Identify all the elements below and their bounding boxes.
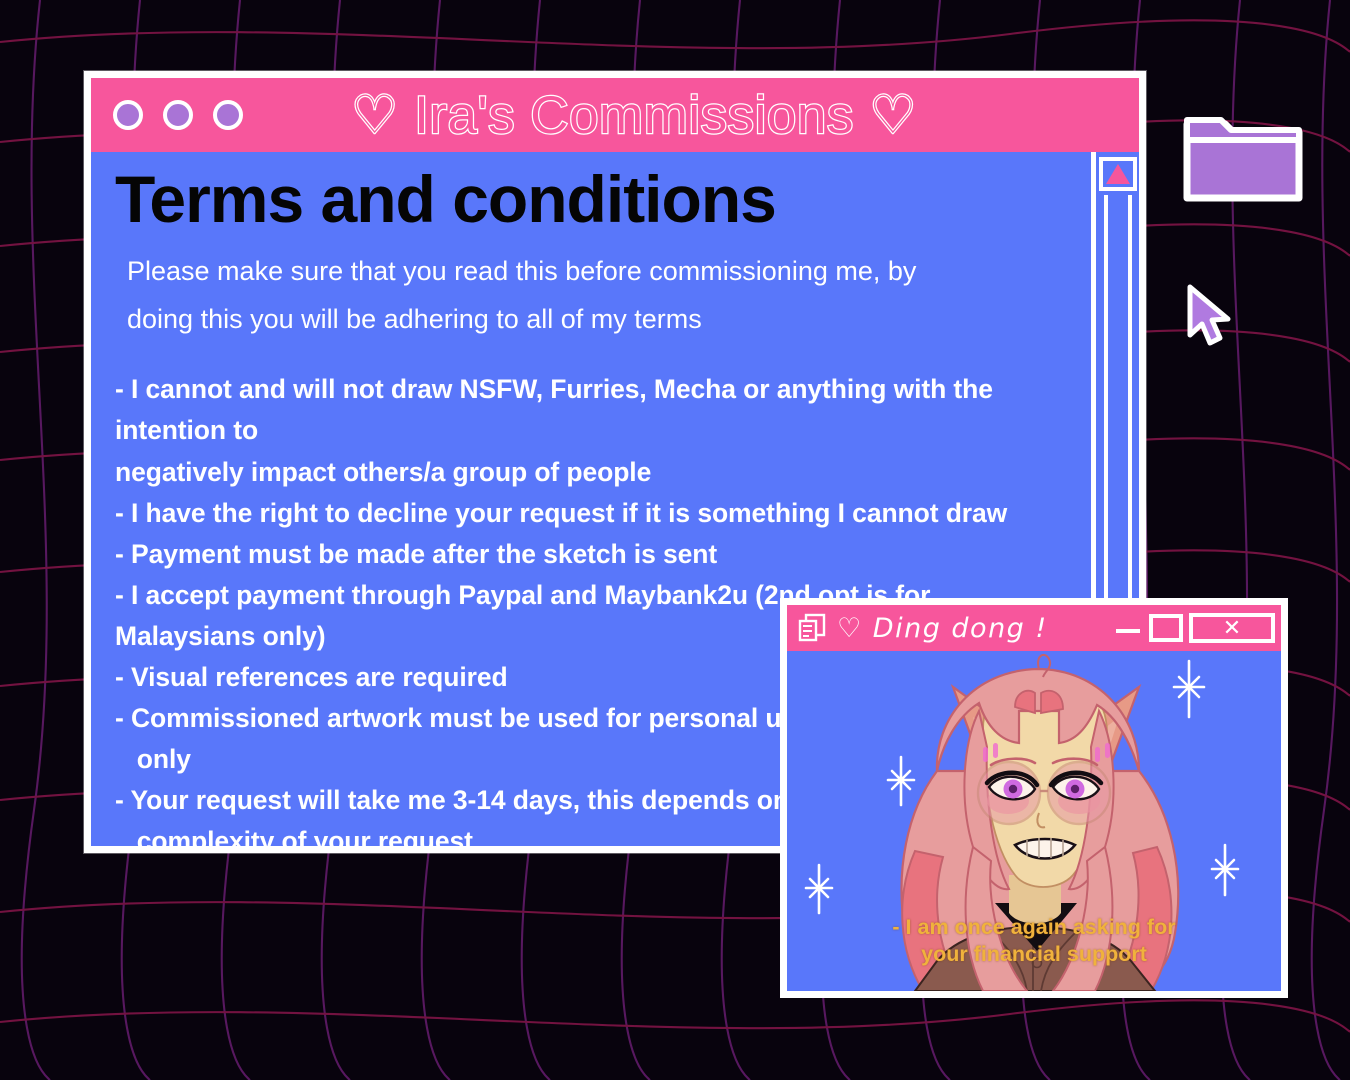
popup-window: ♡ Ding dong ! ✕ (780, 598, 1288, 998)
term-item: - I cannot and will not draw NSFW, Furri… (115, 369, 1073, 492)
popup-body: - I am once again asking for your financ… (787, 651, 1281, 991)
window-dot-2[interactable] (163, 100, 193, 130)
popup-titlebar[interactable]: ♡ Ding dong ! ✕ (787, 605, 1281, 651)
main-window-titlebar[interactable]: ♡ Ira's Commissions ♡ (91, 78, 1139, 152)
intro-line-1: Please make sure that you read this befo… (115, 247, 1073, 295)
folder-icon[interactable] (1181, 106, 1305, 204)
window-controls: ✕ (1113, 613, 1275, 643)
close-button[interactable]: ✕ (1189, 613, 1275, 643)
intro-line-2: doing this you will be adhering to all o… (115, 295, 1073, 343)
triangle-up-icon (1106, 164, 1130, 184)
maximize-button[interactable] (1149, 614, 1183, 642)
term-item: - I have the right to decline your reque… (115, 493, 1073, 534)
window-dot-1[interactable] (113, 100, 143, 130)
popup-caption: - I am once again asking for your financ… (787, 914, 1281, 969)
scroll-up-button[interactable] (1099, 157, 1137, 191)
minimize-button[interactable] (1113, 615, 1143, 641)
mouse-cursor (1182, 283, 1238, 351)
copy-documents-icon (797, 613, 827, 643)
page-title: Terms and conditions (115, 166, 1073, 233)
term-item: - Payment must be made after the sketch … (115, 534, 1073, 575)
popup-title: ♡ Ding dong ! (837, 613, 1103, 644)
main-window-title: ♡ Ira's Commissions ♡ (197, 89, 1071, 142)
